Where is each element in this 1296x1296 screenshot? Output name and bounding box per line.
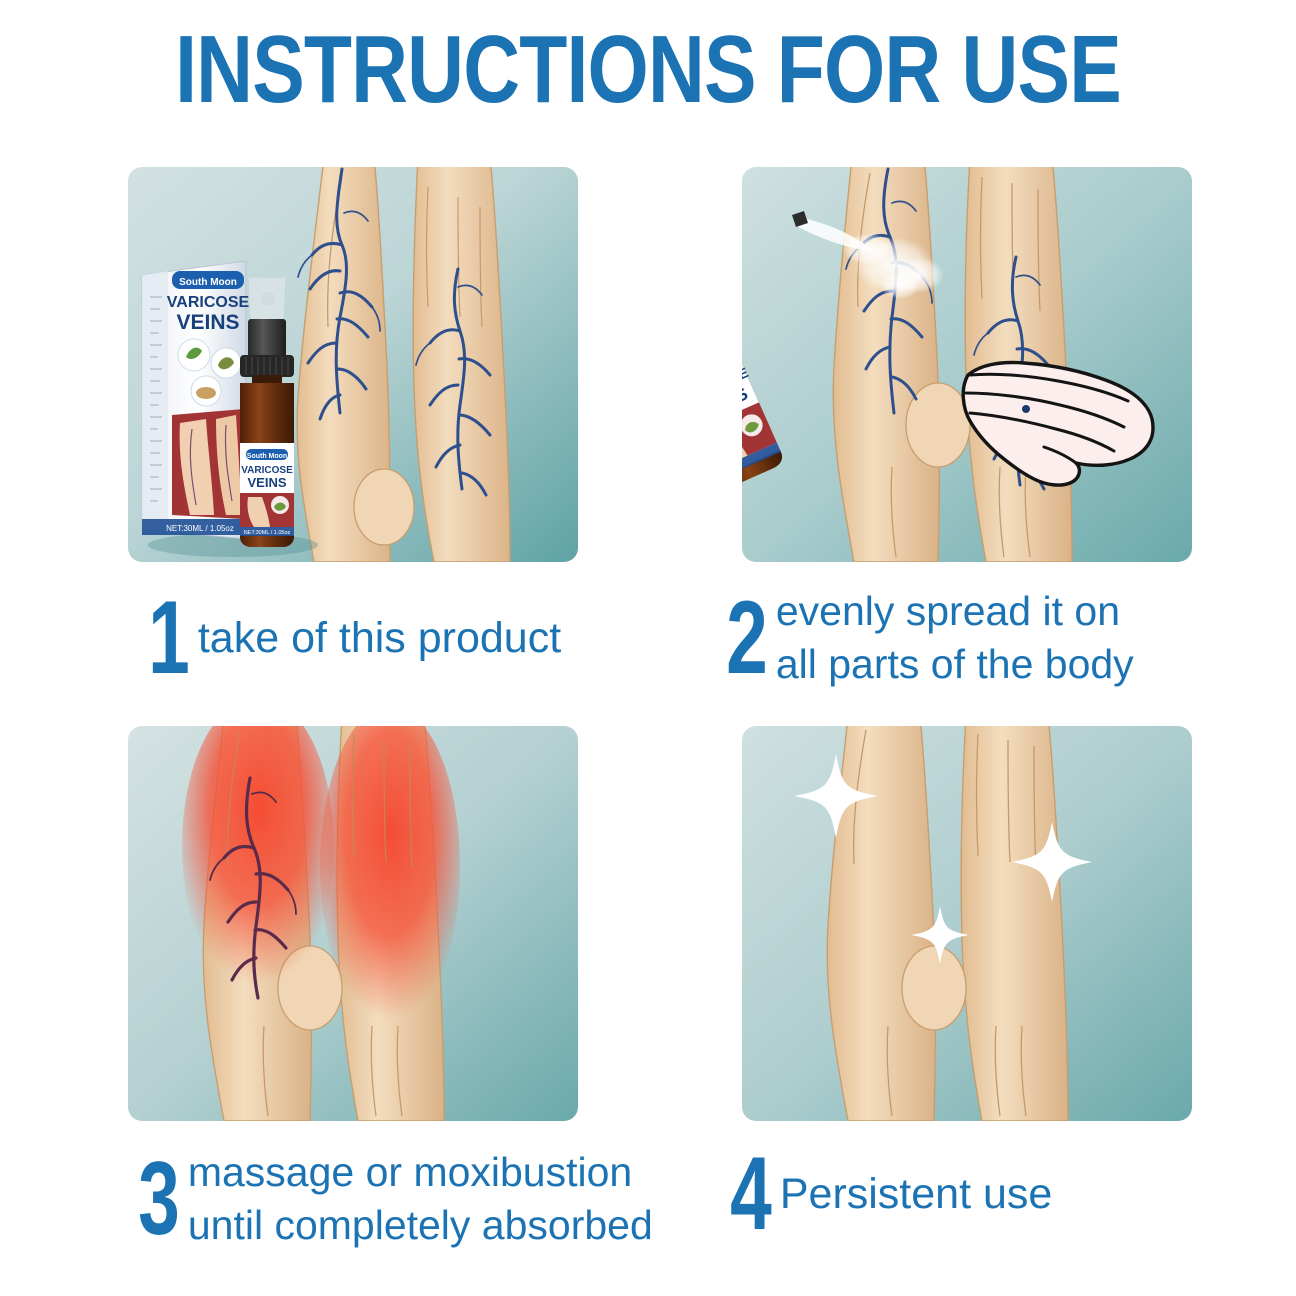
step-4-text: Persistent use	[780, 1168, 1052, 1221]
step-4-image-panel	[742, 726, 1192, 1121]
step-4-number: 4	[730, 1146, 772, 1242]
step-3-image-panel	[128, 726, 578, 1121]
product-box-icon: South Moon VARICOSE VEINS	[142, 261, 250, 539]
step-4-caption: 4 Persistent use	[722, 1146, 1052, 1242]
bottle-volume-label: NET:30ML / 1.05oz	[244, 530, 291, 536]
box-product-name-line1: VARICOSE	[167, 294, 250, 311]
step-1-number: 1	[148, 590, 190, 686]
step-2-image-panel: South Moon VARICOSE VEINS	[742, 167, 1192, 562]
step-2-number: 2	[726, 590, 768, 686]
bottle-brand-label: South Moon	[247, 453, 287, 460]
step-2-caption: 2 evenly spread it on all parts of the b…	[718, 585, 1134, 691]
box-volume-label: NET:30ML / 1.05oz	[166, 524, 234, 533]
bottle-product-name-line2: VEINS	[247, 475, 286, 490]
step-2-text: evenly spread it on all parts of the bod…	[776, 585, 1134, 691]
page-title: INSTRUCTIONS FOR USE	[117, 18, 1180, 122]
step-1-image-panel: South Moon VARICOSE VEINS	[128, 167, 578, 562]
step-3-caption: 3 massage or moxibustion until completel…	[130, 1146, 653, 1252]
step-3-text: massage or moxibustion until completely …	[188, 1146, 653, 1252]
step-1-caption: 1 take of this product	[140, 590, 561, 686]
instructions-infographic: INSTRUCTIONS FOR USE	[0, 0, 1296, 1296]
step-3-number: 3	[138, 1151, 180, 1247]
step-1-text: take of this product	[198, 612, 561, 665]
box-brand-label: South Moon	[179, 277, 237, 288]
box-product-name-line2: VEINS	[176, 311, 239, 334]
